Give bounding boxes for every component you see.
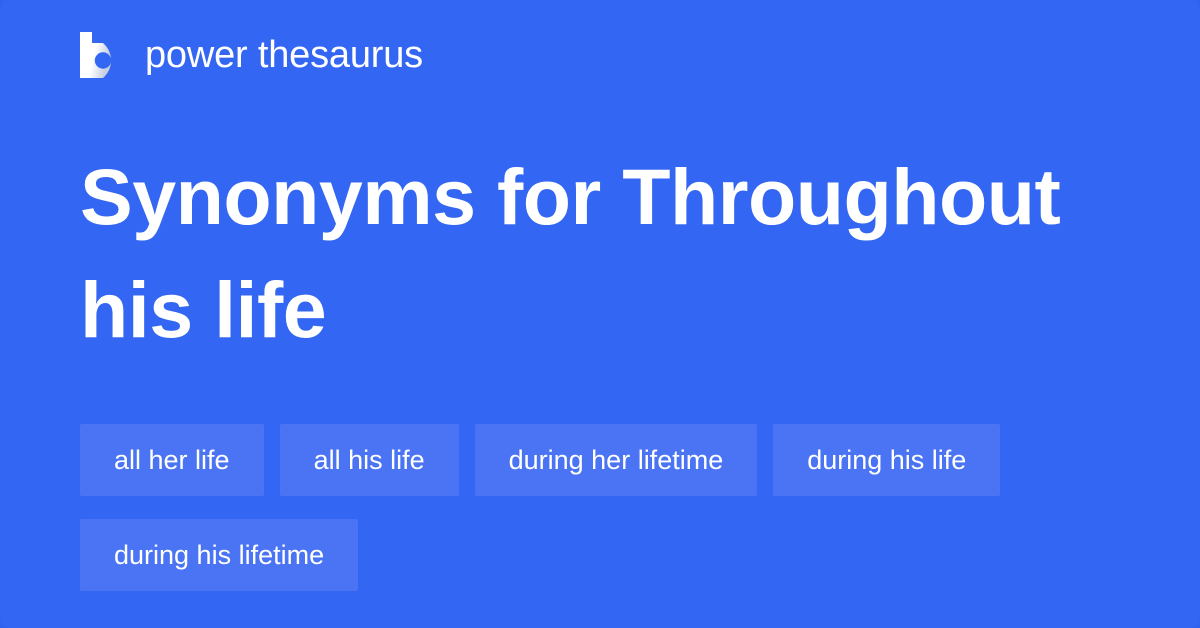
synonym-chip[interactable]: all her life bbox=[80, 424, 264, 496]
synonym-chip[interactable]: all his life bbox=[280, 424, 459, 496]
synonym-chip[interactable]: during his lifetime bbox=[80, 519, 358, 591]
brand-name: power thesaurus bbox=[145, 32, 423, 78]
brand-header[interactable]: power thesaurus bbox=[80, 27, 423, 83]
page-title: Synonyms for Throughout his life bbox=[80, 140, 1140, 366]
synonyms-card: power thesaurus Synonyms for Throughout … bbox=[0, 0, 1200, 628]
synonym-chip[interactable]: during her lifetime bbox=[475, 424, 758, 496]
synonym-chip[interactable]: during his life bbox=[773, 424, 1000, 496]
power-thesaurus-b-logo-icon bbox=[80, 32, 126, 78]
synonym-list: all her life all his life during her lif… bbox=[80, 424, 1140, 591]
